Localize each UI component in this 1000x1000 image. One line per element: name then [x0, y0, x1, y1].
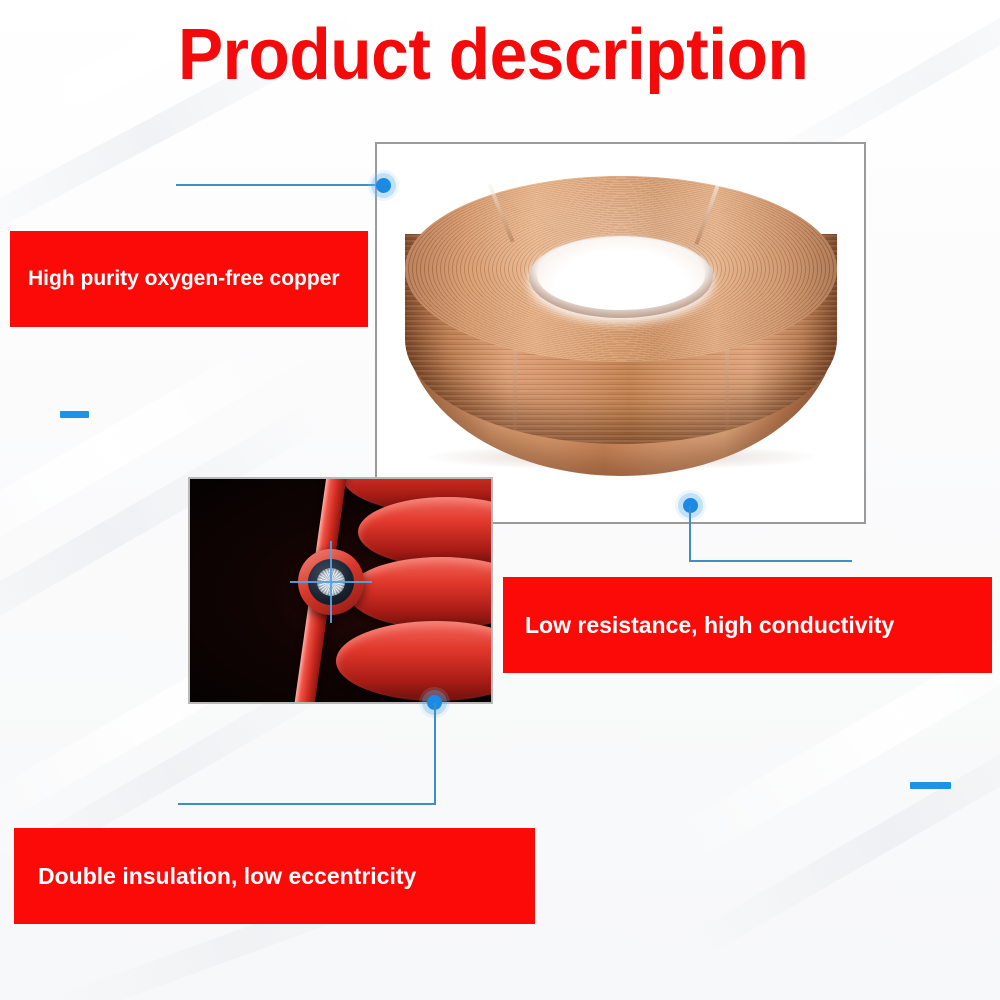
accent-dash-right-icon — [910, 782, 951, 789]
connector-line-2-vertical — [689, 506, 691, 562]
page-title: Product description — [178, 18, 808, 94]
accent-dash-left-icon — [60, 411, 89, 418]
feature-banner-1-label: High purity oxygen-free copper — [28, 267, 340, 291]
copper-coil-image — [377, 144, 864, 522]
red-cable-photo — [188, 477, 493, 704]
feature-banner-2: Low resistance, high conductivity — [503, 577, 992, 673]
feature-banner-3: Double insulation, low eccentricity — [14, 828, 535, 924]
cable-loop-2 — [358, 497, 491, 567]
product-description-infographic: Product description — [0, 0, 1000, 1000]
connector-line-3-vertical — [434, 703, 436, 805]
red-cable-image — [190, 479, 491, 702]
connector-line-2-horizontal — [689, 560, 852, 562]
connector-line-3-horizontal — [178, 803, 436, 805]
feature-banner-1: High purity oxygen-free copper — [10, 231, 368, 327]
connector-line-1 — [176, 184, 386, 186]
crosshair-vertical-icon — [330, 541, 332, 623]
copper-coil-photo — [375, 142, 866, 524]
cable-loop-3 — [348, 557, 491, 629]
callout-dot-1 — [376, 178, 391, 193]
cable-loop-4 — [336, 621, 491, 701]
coil-center-hole-inner — [537, 240, 705, 310]
feature-banner-2-label: Low resistance, high conductivity — [525, 612, 894, 639]
feature-banner-3-label: Double insulation, low eccentricity — [38, 863, 416, 890]
